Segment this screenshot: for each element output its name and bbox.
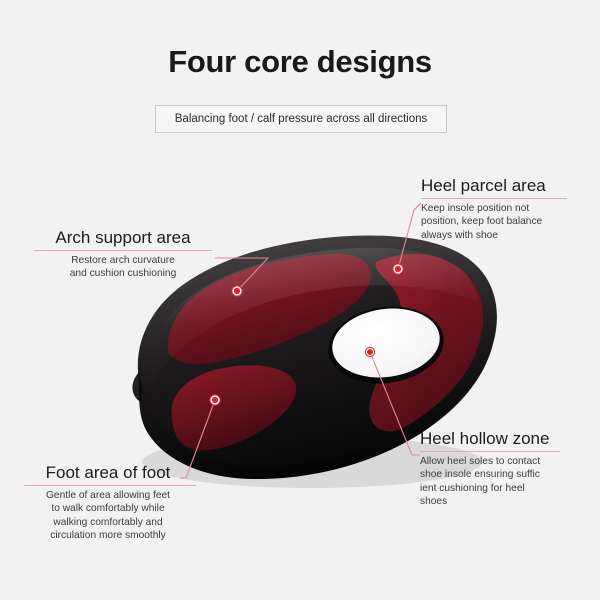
callout-body-line: Keep insole position not [421, 202, 593, 216]
callout-heel-parcel: Heel parcel area Keep insole position no… [421, 176, 593, 242]
foot-area-marker[interactable] [212, 397, 218, 403]
callout-body-line: ient cushioning for heel [420, 482, 592, 496]
callout-heel-parcel-body: Keep insole position not position, keep … [421, 202, 593, 243]
callout-body-line: Restore arch curvature [30, 254, 216, 268]
callout-foot-area-rule [24, 485, 196, 486]
callout-foot-area-body: Gentle of area allowing feet to walk com… [8, 489, 208, 543]
callout-heel-parcel-rule [421, 198, 567, 199]
callout-heel-hollow-heading: Heel hollow zone [420, 429, 592, 449]
callout-body-line: shoe insole ensuring suffic [420, 468, 592, 482]
callout-arch-support: Arch support area Restore arch curvature… [30, 228, 216, 281]
callout-body-line: to walk comfortably while [8, 502, 208, 516]
callout-body-line: shoes [420, 495, 592, 509]
callout-heel-parcel-heading: Heel parcel area [421, 176, 593, 196]
subtitle-text: Balancing foot / calf pressure across al… [175, 113, 427, 125]
callout-heel-hollow-body: Allow heel soles to contact shoe insole … [420, 455, 592, 509]
infographic-page: Four core designs Balancing foot / calf … [0, 0, 600, 600]
callout-body-line: position, keep foot balance [421, 215, 593, 229]
callout-arch-support-rule [34, 250, 212, 251]
callout-body-line: Allow heel soles to contact [420, 455, 592, 469]
callout-heel-hollow: Heel hollow zone Allow heel soles to con… [420, 429, 592, 509]
callout-body-line: walking comfortably and [8, 516, 208, 530]
heel-hollow-marker[interactable] [367, 349, 373, 355]
callout-foot-area-heading: Foot area of foot [8, 463, 208, 483]
callout-arch-support-body: Restore arch curvature and cushion cushi… [30, 254, 216, 281]
arch-support-marker[interactable] [234, 288, 240, 294]
callout-body-line: and cushion cushioning [30, 267, 216, 281]
callout-body-line: always with shoe [421, 229, 593, 243]
page-title: Four core designs [0, 44, 600, 80]
callout-body-line: circulation more smoothly [8, 529, 208, 543]
callout-foot-area: Foot area of foot Gentle of area allowin… [8, 463, 208, 543]
callout-body-line: Gentle of area allowing feet [8, 489, 208, 503]
callout-heel-hollow-rule [420, 451, 560, 452]
callout-arch-support-heading: Arch support area [30, 228, 216, 248]
subtitle-box: Balancing foot / calf pressure across al… [155, 105, 447, 133]
heel-parcel-marker[interactable] [395, 266, 401, 272]
